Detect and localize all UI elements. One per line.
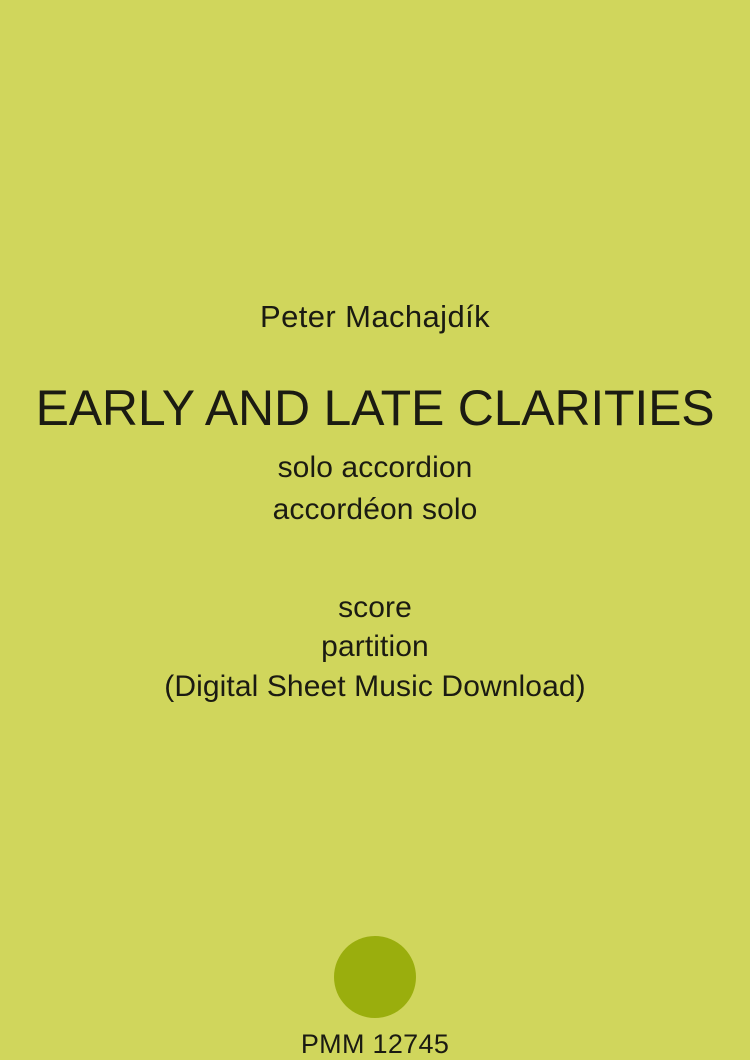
instrumentation-block: solo accordion accordéon solo (0, 447, 750, 532)
edition-line-download-note: (Digital Sheet Music Download) (0, 667, 750, 707)
catalog-number: PMM 12745 (0, 1030, 750, 1060)
edition-block: score partition (Digital Sheet Music Dow… (0, 588, 750, 707)
edition-line-score: score (0, 588, 750, 628)
sheet-music-cover-page: Peter Machajdík EARLY AND LATE CLARITIES… (0, 0, 750, 1060)
publisher-mark: PMM 12745 (0, 936, 750, 1060)
publisher-dot-logo-icon (334, 936, 416, 1018)
composer-name: Peter Machajdík (0, 300, 750, 334)
instrumentation-line-english: solo accordion (0, 447, 750, 490)
instrumentation-line-french: accordéon solo (0, 489, 750, 532)
edition-line-partition: partition (0, 627, 750, 667)
cover-text-stack: Peter Machajdík EARLY AND LATE CLARITIES… (0, 300, 750, 707)
page-title: EARLY AND LATE CLARITIES (0, 382, 750, 435)
